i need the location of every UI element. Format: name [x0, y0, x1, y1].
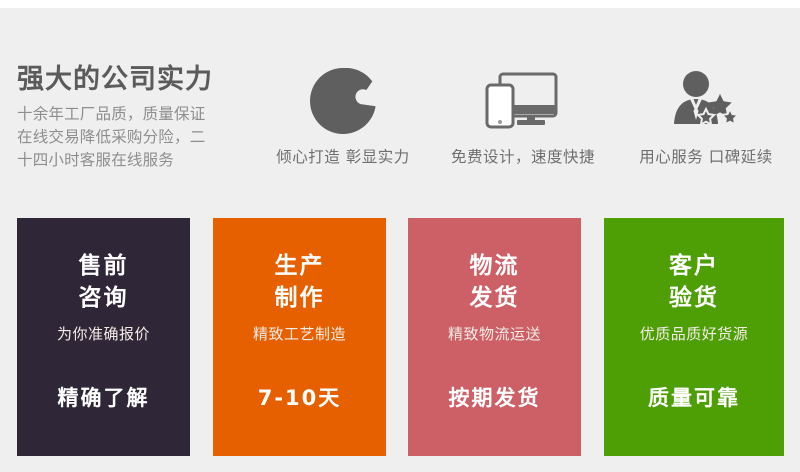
feature-icon-wrap-3 — [612, 63, 800, 139]
service-person-stars-icon — [670, 68, 742, 134]
process-card-presale-consultation[interactable]: 售前 咨询 为你准确报价 精确了解 — [17, 218, 190, 456]
feature-label-3: 用心服务 口碑延续 — [612, 145, 800, 167]
card-subtitle-4: 优质品质好货源 — [604, 324, 784, 344]
process-card-logistics-shipping[interactable]: 物流 发货 精致物流运送 按期发货 — [408, 218, 581, 456]
headline-subtext-line-1: 十余年工厂品质，质量保证 — [17, 103, 245, 126]
feature-icon-wrap-2 — [432, 63, 614, 139]
promo-banner: 强大的公司实力 十余年工厂品质，质量保证 在线交易降低采购分险，二 十四小时客服… — [0, 0, 800, 472]
card-title-line-4b: 验货 — [604, 282, 784, 314]
headline-subtext-line-2: 在线交易降低采购分险，二 — [17, 126, 245, 149]
card-subtitle-2: 精致工艺制造 — [213, 324, 386, 344]
card-title-4: 客户 验货 — [604, 250, 784, 314]
card-footer-2: 7-10天 — [213, 382, 386, 412]
feature-item-service: 用心服务 口碑延续 — [612, 63, 800, 167]
card-title-3: 物流 发货 — [408, 250, 581, 314]
headline-subtext: 十余年工厂品质，质量保证 在线交易降低采购分险，二 十四小时客服在线服务 — [17, 103, 245, 172]
card-title-line-1b: 咨询 — [17, 282, 190, 314]
card-title-line-2b: 制作 — [213, 282, 386, 314]
card-title-line-3b: 发货 — [408, 282, 581, 314]
monitor-phone-icon — [483, 68, 563, 134]
process-card-production-manufacturing[interactable]: 生产 制作 精致工艺制造 7-10天 — [213, 218, 386, 456]
card-title-line-1a: 售前 — [17, 250, 190, 282]
card-title-line-3a: 物流 — [408, 250, 581, 282]
page-title: 强大的公司实力 — [17, 63, 245, 97]
circle-notch-icon — [310, 68, 376, 134]
header-section: 强大的公司实力 十余年工厂品质，质量保证 在线交易降低采购分险，二 十四小时客服… — [0, 8, 800, 208]
feature-item-free-design: 免费设计，速度快捷 — [432, 63, 614, 167]
card-footer-1: 精确了解 — [17, 382, 190, 412]
feature-label-1: 倾心打造 彰显实力 — [248, 145, 438, 167]
card-footer-4: 质量可靠 — [604, 382, 784, 412]
feature-item-craftsmanship: 倾心打造 彰显实力 — [248, 63, 438, 167]
feature-label-2: 免费设计，速度快捷 — [432, 145, 614, 167]
card-title-line-4a: 客户 — [604, 250, 784, 282]
card-title-line-2a: 生产 — [213, 250, 386, 282]
headline-subtext-line-3: 十四小时客服在线服务 — [17, 149, 245, 172]
card-subtitle-1: 为你准确报价 — [17, 324, 190, 344]
card-title-2: 生产 制作 — [213, 250, 386, 314]
process-cards: 售前 咨询 为你准确报价 精确了解 生产 制作 精致工艺制造 7-10天 物流 … — [0, 218, 800, 456]
card-title-1: 售前 咨询 — [17, 250, 190, 314]
card-subtitle-3: 精致物流运送 — [408, 324, 581, 344]
feature-icon-wrap-1 — [248, 63, 438, 139]
headline-block: 强大的公司实力 十余年工厂品质，质量保证 在线交易降低采购分险，二 十四小时客服… — [17, 63, 245, 172]
process-card-customer-inspection[interactable]: 客户 验货 优质品质好货源 质量可靠 — [604, 218, 784, 456]
card-footer-3: 按期发货 — [408, 382, 581, 412]
